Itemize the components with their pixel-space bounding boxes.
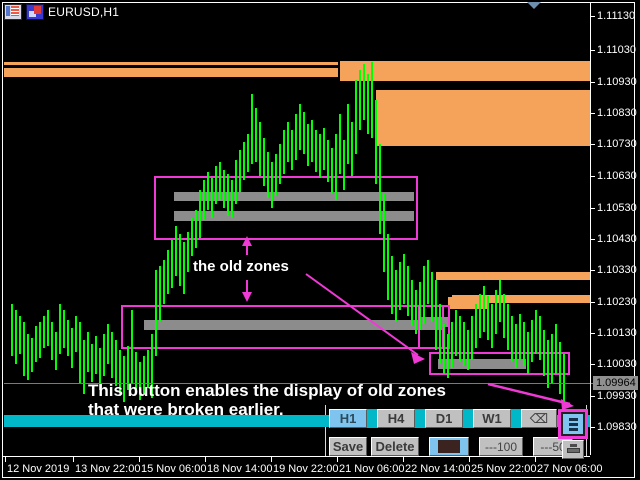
- price-tick-label: 1.11130: [597, 10, 635, 22]
- time-tick-label: 22 Nov 14:00: [405, 463, 470, 475]
- time-tick-label: 15 Nov 06:00: [141, 463, 206, 475]
- chart-symbol-title: EURUSD,H1: [48, 5, 119, 19]
- panel-gap: [511, 409, 521, 428]
- list-lines-icon: [569, 418, 578, 431]
- metatrader-chart-window: EURUSD,H1: [0, 0, 640, 480]
- price-tick-label: 1.10430: [597, 233, 637, 245]
- annotation-button-note-line1: This button enables the display of old z…: [88, 381, 446, 400]
- annotation-button-note-line2: that were broken earlier.: [88, 400, 284, 419]
- time-tick-label: 12 Nov 2019: [7, 463, 69, 475]
- time-tick-label: 25 Nov 22:00: [471, 463, 536, 475]
- price-tick-label: 1.10730: [597, 138, 637, 150]
- indicator-button-panel: H1 H4 D1 W1 ⌫ Save Delete ---100 ---50: [329, 409, 587, 455]
- save-button[interactable]: Save: [329, 437, 367, 456]
- time-tick-label: 21 Nov 06:00: [339, 463, 404, 475]
- chevron-down-icon: [527, 2, 541, 9]
- time-axis-line: [3, 456, 590, 457]
- print-button[interactable]: [562, 440, 584, 459]
- chart-titlebar: EURUSD,H1: [4, 3, 119, 21]
- price-tick-label: 1.11030: [597, 44, 636, 56]
- backspace-icon: ⌫: [530, 411, 548, 427]
- timeframe-button-d1[interactable]: D1: [425, 409, 463, 428]
- color-swatch-icon: [438, 440, 460, 453]
- time-tick-label: 18 Nov 14:00: [207, 463, 272, 475]
- price-scale[interactable]: 1.11130 1.11030 1.10930 1.10830 1.10730 …: [590, 3, 638, 455]
- backspace-button[interactable]: ⌫: [521, 409, 557, 428]
- current-price-label: 1.09964: [593, 376, 638, 390]
- offset-minus-100-button[interactable]: ---100: [479, 437, 523, 456]
- price-tick-label: 1.10530: [597, 202, 637, 214]
- panel-gap: [415, 409, 425, 428]
- price-tick-label: 1.10130: [597, 327, 637, 339]
- delete-button[interactable]: Delete: [371, 437, 419, 456]
- price-tick-label: 1.10830: [597, 107, 637, 119]
- timeframe-button-h4[interactable]: H4: [377, 409, 415, 428]
- time-tick-label: 27 Nov 06:00: [537, 463, 602, 475]
- price-tick-label: 1.10930: [597, 76, 637, 88]
- panel-gap: [463, 409, 473, 428]
- print-icon: [567, 444, 580, 455]
- old-zones-toggle-button[interactable]: [561, 412, 585, 436]
- price-tick-label: 1.10630: [597, 170, 637, 182]
- old-zones-toggle-highlight: [558, 409, 588, 439]
- price-tick-label: 1.09830: [597, 421, 637, 433]
- price-tick-label: 1.09930: [597, 390, 637, 402]
- price-tick-label: 1.10030: [597, 358, 637, 370]
- price-axis-line: [590, 3, 591, 455]
- data-window-icon: [4, 4, 22, 20]
- time-tick-label: 13 Nov 22:00: [75, 463, 140, 475]
- chart-template-icon: [26, 4, 44, 20]
- price-tick-label: 1.10230: [597, 296, 637, 308]
- panel-gap: [367, 409, 377, 428]
- time-scale[interactable]: 12 Nov 2019 13 Nov 22:00 15 Nov 06:00 18…: [3, 455, 637, 479]
- price-tick-label: 1.10330: [597, 264, 637, 276]
- time-tick-label: 19 Nov 22:00: [273, 463, 338, 475]
- color-swatch-button[interactable]: [429, 437, 469, 456]
- timeframe-button-w1[interactable]: W1: [473, 409, 511, 428]
- timeframe-button-h1[interactable]: H1: [329, 409, 367, 428]
- annotation-old-zones: the old zones: [193, 258, 289, 275]
